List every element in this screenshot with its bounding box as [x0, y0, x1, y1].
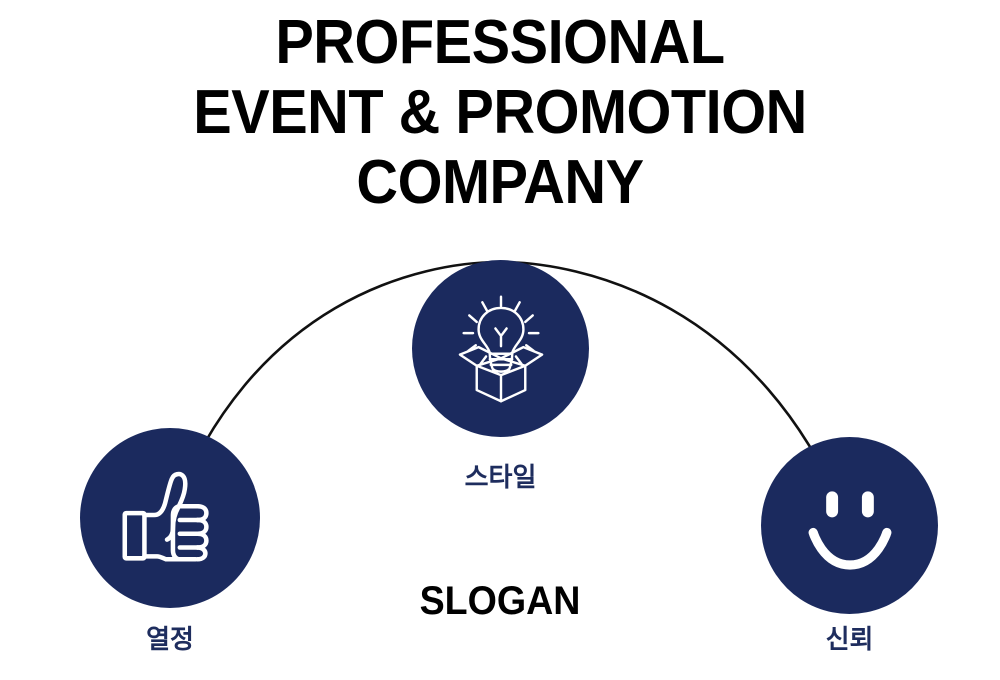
title-line-1: PROFESSIONAL [35, 8, 965, 78]
smiley-left-eye [826, 491, 838, 517]
page-title: PROFESSIONAL EVENT & PROMOTION COMPANY [35, 8, 965, 218]
smiley-right-eye [861, 491, 873, 517]
node-right-label: 신뢰 [761, 624, 938, 654]
smiley-mouth [813, 532, 887, 565]
smiley-face-icon [785, 461, 915, 591]
node-center-label: 스타일 [412, 462, 589, 492]
title-line-2: EVENT & PROMOTION [35, 78, 965, 148]
lightbulb-in-open-box-icon [445, 293, 557, 405]
title-line-3: COMPANY [35, 148, 965, 218]
infographic-canvas: PROFESSIONAL EVENT & PROMOTION COMPANY [0, 0, 1000, 680]
thumbs-up-icon [111, 459, 229, 577]
node-left-label: 열정 [80, 624, 260, 654]
node-center-circle[interactable] [412, 260, 589, 437]
slogan-text: SLOGAN [30, 578, 970, 624]
